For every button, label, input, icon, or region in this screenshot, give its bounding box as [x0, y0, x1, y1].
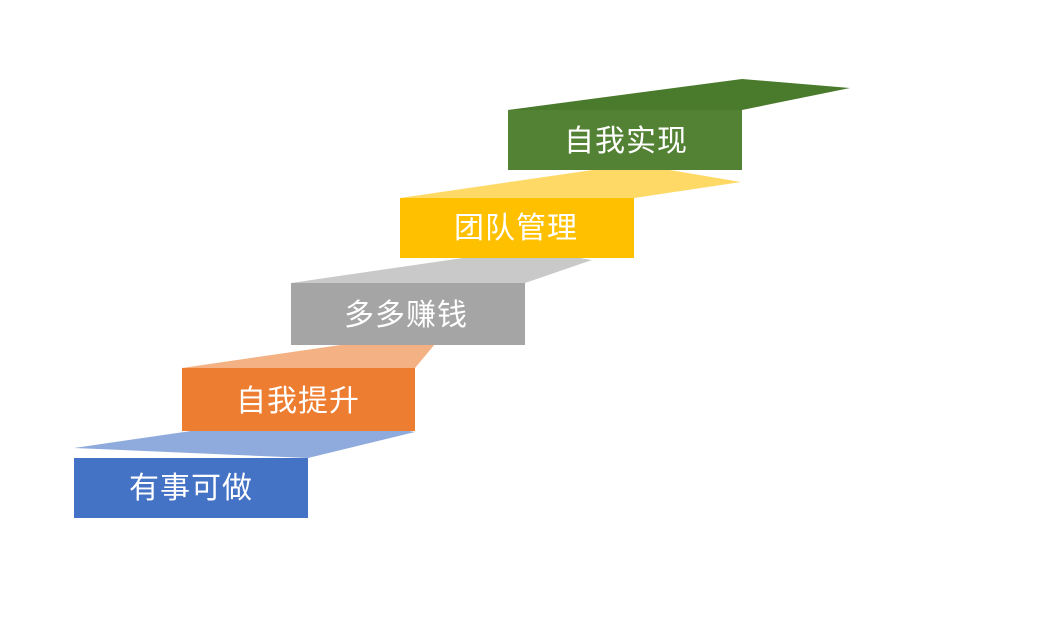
- step-1-label: 有事可做: [129, 472, 253, 505]
- step-5-label: 自我实现: [564, 125, 688, 158]
- step-5-group[interactable]: 自我实现: [508, 79, 850, 170]
- step-2-group[interactable]: 自我提升: [182, 334, 440, 431]
- step-5-top-face: [508, 79, 850, 110]
- step-4-label: 团队管理: [454, 212, 578, 245]
- slide-canvas: 有事可做 自我提升 多多赚钱 团队管理 自我实现: [0, 0, 1047, 626]
- step-4-group[interactable]: 团队管理: [400, 164, 741, 258]
- staircase-diagram: 有事可做 自我提升 多多赚钱 团队管理 自我实现: [0, 0, 1047, 626]
- step-3-label: 多多赚钱: [344, 299, 468, 332]
- step-3-group[interactable]: 多多赚钱: [291, 249, 592, 345]
- step-2-label: 自我提升: [236, 385, 360, 418]
